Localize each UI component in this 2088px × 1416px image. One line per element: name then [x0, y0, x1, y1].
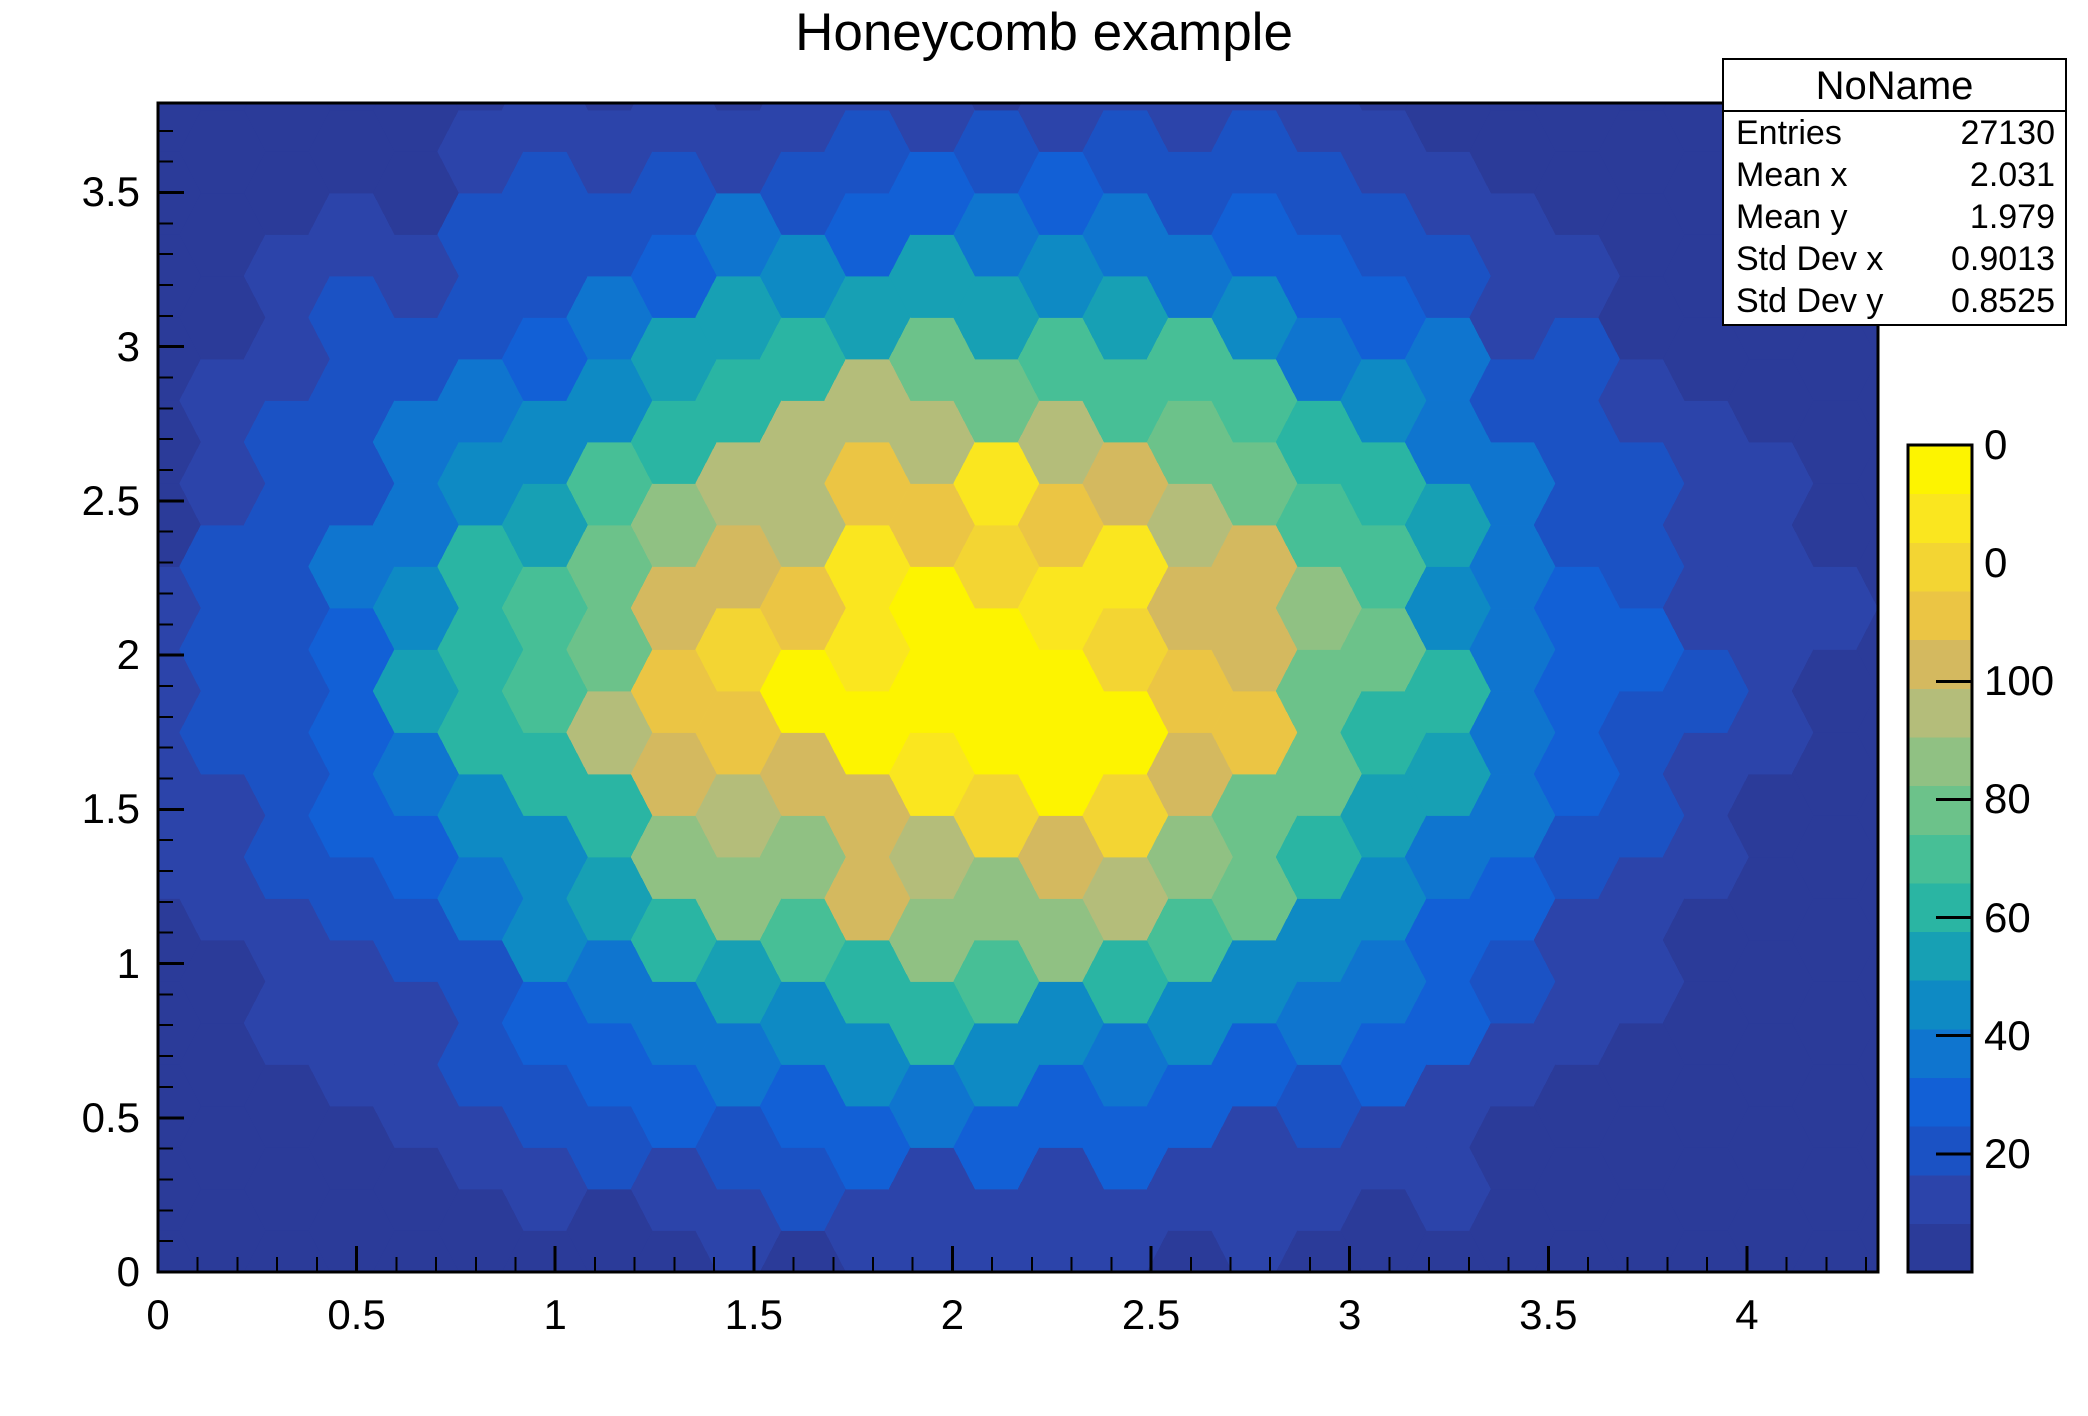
y-axis-tick-label: 0	[117, 1251, 140, 1293]
root-canvas: Honeycomb example 00.511.522.533.54 00.5…	[0, 0, 2088, 1416]
hexbin-cell	[760, 0, 846, 69]
color-bar-band	[1908, 1175, 1972, 1224]
z-axis-tick-label: 60	[1984, 897, 2031, 939]
x-axis-tick-label: 0	[146, 1294, 169, 1336]
stats-row: Mean x2.031	[1724, 154, 2065, 196]
y-axis-tick-label: 1.5	[82, 788, 140, 830]
hexbin-cell	[696, 27, 782, 110]
color-bar-band	[1908, 931, 1972, 980]
stats-row: Std Dev x0.9013	[1724, 238, 2065, 280]
stats-row-label: Std Dev y	[1736, 280, 1883, 322]
color-bar-band	[1908, 980, 1972, 1029]
z-axis-tick-label-clipped: 0	[1984, 542, 2007, 584]
x-axis-tick-label: 2.5	[1122, 1294, 1180, 1336]
hexbin-cell	[1534, 0, 1620, 69]
stats-row: Entries27130	[1724, 112, 2065, 154]
stats-row: Mean y1.979	[1724, 196, 2065, 238]
hexbin-cell	[502, 0, 588, 69]
y-axis-tick-label: 0.5	[82, 1097, 140, 1139]
stats-row-label: Mean y	[1736, 196, 1848, 238]
z-axis-tick-label: 20	[1984, 1133, 2031, 1175]
stats-title: NoName	[1724, 60, 2065, 112]
y-axis-tick-label: 1	[117, 943, 140, 985]
x-axis-tick-label: 3	[1338, 1294, 1361, 1336]
hexbin-cell	[1147, 0, 1233, 69]
hexbin-cell	[1018, 0, 1104, 69]
stats-row: Std Dev y0.8525	[1724, 280, 2065, 322]
color-bar-band	[1908, 786, 1972, 835]
x-axis-tick-label: 1.5	[725, 1294, 783, 1336]
x-axis-tick-label: 3.5	[1519, 1294, 1577, 1336]
color-bar-band	[1908, 883, 1972, 932]
hexbin-cell	[373, 0, 459, 69]
hexbin-cell	[889, 0, 975, 69]
hexbin-cell	[1921, 318, 2007, 401]
hexbin-cell	[631, 0, 717, 69]
hexbin-cell	[1470, 27, 1556, 110]
color-bar-band	[1908, 1126, 1972, 1175]
color-bar-band	[1908, 1077, 1972, 1126]
y-axis-tick-label: 2.5	[82, 480, 140, 522]
hexbin-cell	[954, 27, 1040, 110]
hexbin-cell	[1083, 27, 1169, 110]
hexbin-cell	[1212, 27, 1298, 110]
stats-row-value: 27130	[1960, 112, 2055, 154]
stats-row-value: 1.979	[1970, 196, 2055, 238]
color-bar-band	[1908, 445, 1972, 494]
z-axis-tick-label: 80	[1984, 778, 2031, 820]
hexbin-cell	[1599, 27, 1685, 110]
color-bar-band	[1908, 542, 1972, 591]
x-axis-tick-label: 2	[941, 1294, 964, 1336]
color-bar-band	[1908, 494, 1972, 543]
stats-row-value: 0.9013	[1951, 238, 2055, 280]
stats-row-value: 0.8525	[1951, 280, 2055, 322]
x-axis-tick-label: 1	[544, 1294, 567, 1336]
stats-row-label: Mean x	[1736, 154, 1848, 196]
y-axis-tick-label: 2	[117, 634, 140, 676]
x-axis-tick-label: 0.5	[327, 1294, 385, 1336]
z-axis-tick-label: 100	[1984, 660, 2054, 702]
color-bar	[1908, 445, 1972, 1273]
stats-rows: Entries27130Mean x2.031Mean y1.979Std De…	[1724, 112, 2065, 322]
x-axis-tick-label: 4	[1735, 1294, 1758, 1336]
color-bar-band	[1908, 834, 1972, 883]
statistics-box[interactable]: NoName Entries27130Mean x2.031Mean y1.97…	[1722, 58, 2067, 326]
hexbin-cell	[438, 27, 524, 110]
stats-row-label: Entries	[1736, 112, 1842, 154]
color-bar-band	[1908, 688, 1972, 737]
hexbin-cell	[244, 0, 330, 69]
hexbin-cell	[180, 27, 266, 110]
hexbin-cell	[1341, 27, 1427, 110]
y-axis-tick-label: 3.5	[82, 171, 140, 213]
color-bar-band	[1908, 1223, 1972, 1272]
hexbin-cell	[825, 27, 911, 110]
z-axis-tick-label: 40	[1984, 1015, 2031, 1057]
hexbin-cell	[1405, 0, 1491, 69]
color-bar-band	[1908, 737, 1972, 786]
hexbin-cell	[115, 0, 201, 69]
hexbin-cell	[567, 27, 653, 110]
y-axis-tick-label: 3	[117, 326, 140, 368]
z-axis-tick-label-clipped: 0	[1984, 424, 2007, 466]
stats-row-label: Std Dev x	[1736, 238, 1883, 280]
stats-row-value: 2.031	[1970, 154, 2055, 196]
color-bar-band	[1908, 591, 1972, 640]
hexbin-cell	[1276, 0, 1362, 69]
hexbin-cell	[309, 27, 395, 110]
